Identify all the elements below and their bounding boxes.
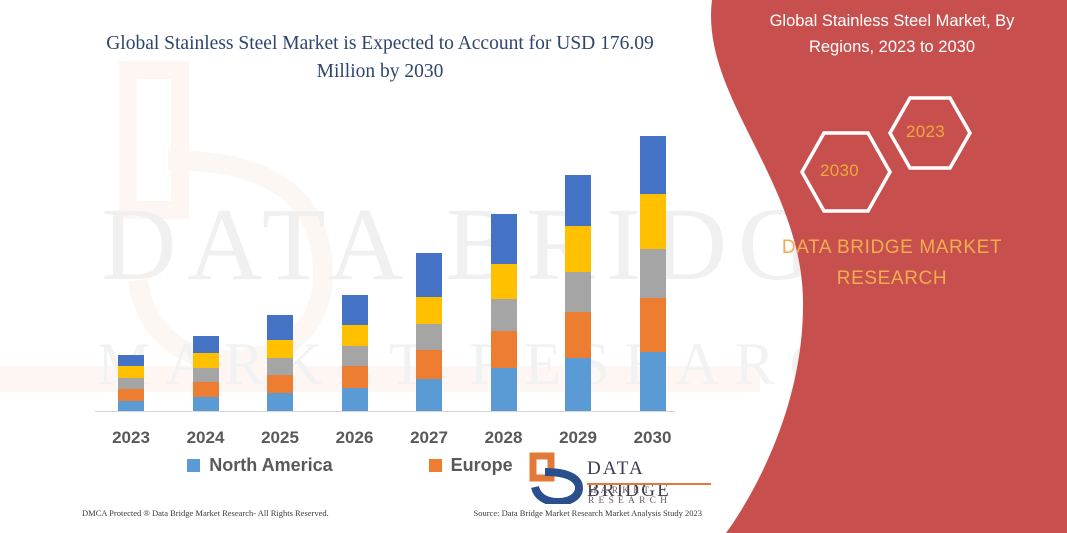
infographic-root: DATA BRIDGE MARKET RESEARCH Global Stain… bbox=[0, 0, 1067, 533]
bar-segment-middle-east-and-africa bbox=[193, 336, 219, 353]
bar-segment-asia-pacific bbox=[416, 324, 442, 350]
x-tick-2026: 2026 bbox=[325, 428, 385, 448]
data-bridge-logo: DATA BRIDGE MARKET RESEARCH bbox=[525, 452, 720, 508]
panel-brand-line1: DATA BRIDGE MARKET bbox=[737, 232, 1047, 263]
bar-2029 bbox=[565, 175, 591, 411]
bar-segment-middle-east-and-africa bbox=[640, 136, 666, 194]
x-axis-line bbox=[95, 411, 675, 412]
legend-label: North America bbox=[209, 455, 332, 476]
bar-segment-europe bbox=[267, 375, 293, 393]
hexagon-badges: 2023 2030 bbox=[772, 90, 1022, 215]
legend-label: Europe bbox=[451, 455, 513, 476]
bar-segment-middle-east-and-africa bbox=[118, 355, 144, 366]
x-tick-2028: 2028 bbox=[474, 428, 534, 448]
hexagon-label-left: 2030 bbox=[820, 161, 859, 181]
bar-segment-middle-east-and-africa bbox=[491, 214, 517, 264]
bar-segment-asia-pacific bbox=[118, 378, 144, 389]
logo-divider bbox=[587, 483, 711, 485]
x-tick-2023: 2023 bbox=[101, 428, 161, 448]
bar-segment-north-america bbox=[267, 393, 293, 411]
bar-segment-north-america bbox=[491, 368, 517, 411]
bar-segment-middle-east-and-africa bbox=[267, 315, 293, 340]
bar-segment-north-america bbox=[118, 401, 144, 411]
hexagon-label-right: 2023 bbox=[906, 122, 945, 142]
bar-2028 bbox=[491, 214, 517, 411]
x-tick-2024: 2024 bbox=[176, 428, 236, 448]
panel-title: Global Stainless Steel Market, By Region… bbox=[742, 8, 1042, 60]
bar-2024 bbox=[193, 336, 219, 411]
x-tick-2027: 2027 bbox=[399, 428, 459, 448]
bar-segment-europe bbox=[640, 298, 666, 352]
bar-segment-middle-east-and-africa bbox=[416, 253, 442, 297]
footer: DMCA Protected ® Data Bridge Market Rese… bbox=[82, 508, 702, 518]
bar-segment-asia-pacific bbox=[491, 299, 517, 331]
bar-segment-south-america bbox=[193, 353, 219, 368]
bar-segment-south-america bbox=[640, 194, 666, 249]
bar-segment-europe bbox=[491, 331, 517, 368]
bar-segment-south-america bbox=[416, 297, 442, 324]
bar-segment-north-america bbox=[416, 379, 442, 411]
bar-segment-asia-pacific bbox=[267, 358, 293, 375]
footer-copyright: DMCA Protected ® Data Bridge Market Rese… bbox=[82, 508, 329, 518]
bar-segment-north-america bbox=[640, 352, 666, 411]
bar-segment-europe bbox=[565, 312, 591, 358]
x-tick-2025: 2025 bbox=[250, 428, 310, 448]
bar-segment-south-america bbox=[342, 325, 368, 346]
hexagon-shapes bbox=[772, 90, 1022, 215]
panel-brand-line2: RESEARCH bbox=[737, 263, 1047, 294]
bar-segment-europe bbox=[193, 382, 219, 397]
bar-segment-north-america bbox=[193, 397, 219, 411]
bar-segment-asia-pacific bbox=[193, 368, 219, 382]
bar-segment-south-america bbox=[491, 264, 517, 299]
legend-item-north-america[interactable]: North America bbox=[187, 455, 332, 476]
bar-2025 bbox=[267, 315, 293, 411]
logo-name-bottom: MARKET RESEARCH bbox=[588, 486, 720, 506]
bar-2027 bbox=[416, 253, 442, 411]
bar-2026 bbox=[342, 295, 368, 411]
logo-mark-icon bbox=[525, 452, 585, 504]
bar-segment-middle-east-and-africa bbox=[565, 175, 591, 226]
x-tick-2029: 2029 bbox=[548, 428, 608, 448]
panel-content: Global Stainless Steel Market, By Region… bbox=[712, 0, 1067, 533]
bar-2030 bbox=[640, 136, 666, 411]
bar-segment-asia-pacific bbox=[565, 272, 591, 312]
bar-segment-south-america bbox=[565, 226, 591, 272]
bar-segment-europe bbox=[342, 366, 368, 388]
x-tick-2030: 2030 bbox=[623, 428, 683, 448]
bar-segment-north-america bbox=[565, 358, 591, 411]
legend-swatch-icon bbox=[187, 459, 200, 472]
x-axis-tick-labels: 20232024202520262027202820292030 bbox=[0, 428, 760, 452]
panel-brand: DATA BRIDGE MARKET RESEARCH bbox=[737, 232, 1047, 294]
legend-item-europe[interactable]: Europe bbox=[429, 455, 513, 476]
footer-source: Source: Data Bridge Market Research Mark… bbox=[473, 508, 702, 518]
legend-swatch-icon bbox=[429, 459, 442, 472]
bar-segment-north-america bbox=[342, 388, 368, 411]
bar-segment-south-america bbox=[118, 366, 144, 378]
bar-segment-asia-pacific bbox=[640, 249, 666, 298]
bar-segment-south-america bbox=[267, 340, 293, 358]
bar-segment-asia-pacific bbox=[342, 346, 368, 366]
bar-segment-middle-east-and-africa bbox=[342, 295, 368, 325]
bar-segment-europe bbox=[118, 389, 144, 401]
bar-segment-europe bbox=[416, 350, 442, 379]
bar-2023 bbox=[118, 355, 144, 411]
